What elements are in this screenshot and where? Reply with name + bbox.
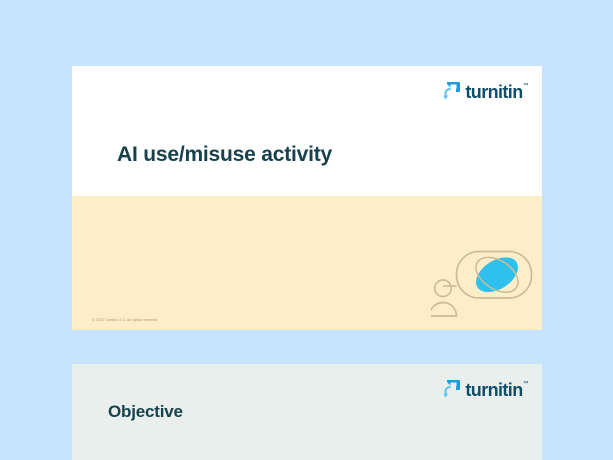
trademark-symbol: ™ [523,83,528,89]
turnitin-mark-icon [444,81,461,100]
turnitin-logo: turnitin™ [444,81,528,100]
slide-title-text: AI use/misuse activity [117,143,332,167]
slide-title-text: Objective [108,402,183,422]
slide-title-slide[interactable]: turnitin™ AI use/misuse activity © 2022 … [72,66,542,330]
slide-deck: turnitin™ AI use/misuse activity © 2022 … [0,0,613,460]
trademark-symbol: ™ [523,381,528,387]
slide-objective-slide[interactable]: turnitin™ Objective [72,364,542,460]
person-speech-bubble-ai-illustration [431,247,539,319]
turnitin-wordmark: turnitin™ [465,381,528,399]
copyright-notice: © 2022 Turnitin LLC. All rights reserved… [92,318,158,322]
turnitin-mark-icon [444,379,461,398]
turnitin-wordmark: turnitin™ [465,83,528,101]
turnitin-logo: turnitin™ [444,379,528,398]
ai-orbit-icon [470,250,525,299]
